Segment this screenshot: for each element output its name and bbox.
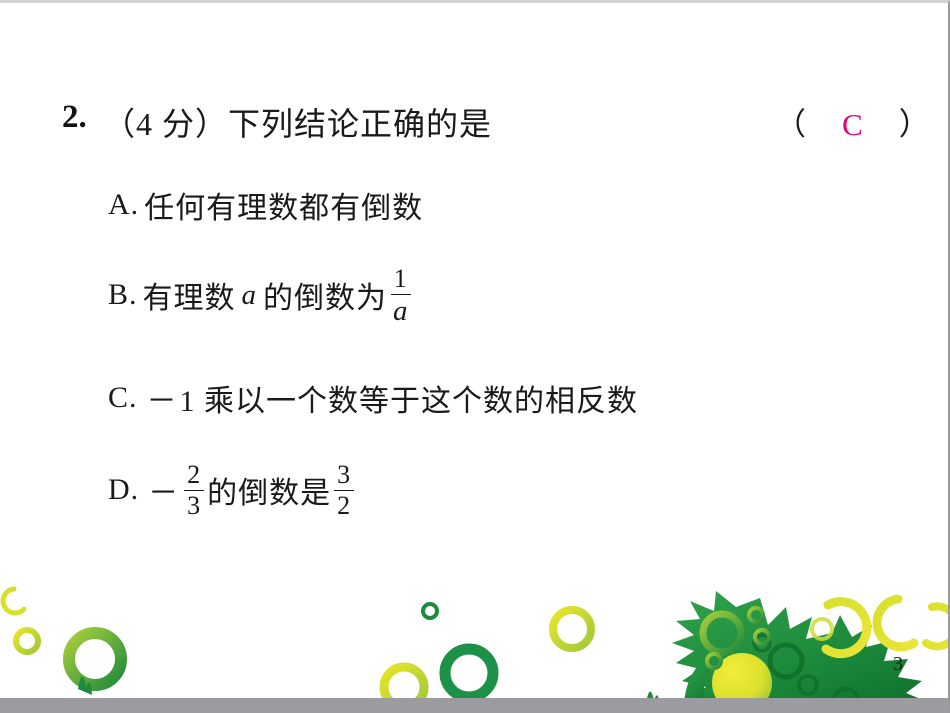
option-b-text-after: 的倒数为: [263, 273, 387, 317]
option-b: B. 有理数 a 的倒数为 1 a: [108, 265, 415, 325]
option-d-fraction-one-denominator: 3: [184, 491, 204, 520]
question-row: 2. （4 分）下列结论正确的是 （C）: [0, 99, 950, 161]
option-d-minus-sign: －: [144, 468, 181, 512]
option-d-label: D.: [108, 473, 139, 507]
option-c-label: C.: [108, 381, 138, 415]
option-c-minus-sign: －: [143, 376, 180, 420]
answer-close-paren: ）: [899, 107, 930, 142]
floating-rings: [3, 589, 769, 707]
option-b-text-before: 有理数: [143, 273, 236, 317]
option-d: D. － 2 3 的倒数是 3 2: [108, 461, 357, 518]
answer-bracket: （C）: [775, 99, 930, 144]
option-b-label: B.: [108, 278, 138, 312]
footer-decoration: [0, 563, 950, 713]
option-d-fraction-two-denominator: 2: [334, 491, 354, 520]
option-d-fraction-one: 2 3: [184, 462, 204, 519]
option-a-label: A.: [108, 188, 139, 222]
option-d-fraction-one-numerator: 2: [184, 462, 204, 491]
option-b-fraction-numerator: 1: [391, 266, 411, 295]
option-c: C. － 1 乘以一个数等于这个数的相反数: [108, 376, 638, 420]
answer-open-paren: （: [775, 107, 806, 142]
option-d-fraction-two: 3 2: [334, 462, 354, 519]
option-b-fraction-denominator: a: [390, 295, 412, 327]
question-stem: （4 分）下列结论正确的是: [103, 99, 492, 145]
answer-choice: C: [806, 107, 899, 142]
option-b-fraction: 1 a: [390, 266, 412, 326]
option-d-text-middle: 的倒数是: [207, 468, 331, 512]
option-a-text: 任何有理数都有倒数: [144, 183, 423, 227]
option-a: A. 任何有理数都有倒数: [108, 183, 423, 227]
question-number: 2.: [62, 99, 87, 136]
maple-leaf-icon: [672, 591, 930, 713]
presentation-slide: 2. （4 分）下列结论正确的是 （C） A. 任何有理数都有倒数 B. 有理数…: [0, 0, 950, 713]
option-c-text: 1 乘以一个数等于这个数的相反数: [180, 376, 639, 420]
page-number: 3: [893, 653, 903, 676]
option-d-fraction-two-numerator: 3: [334, 462, 354, 491]
accent-rings: [826, 599, 950, 654]
option-b-variable: a: [236, 279, 264, 312]
bottom-bar: [0, 698, 950, 713]
